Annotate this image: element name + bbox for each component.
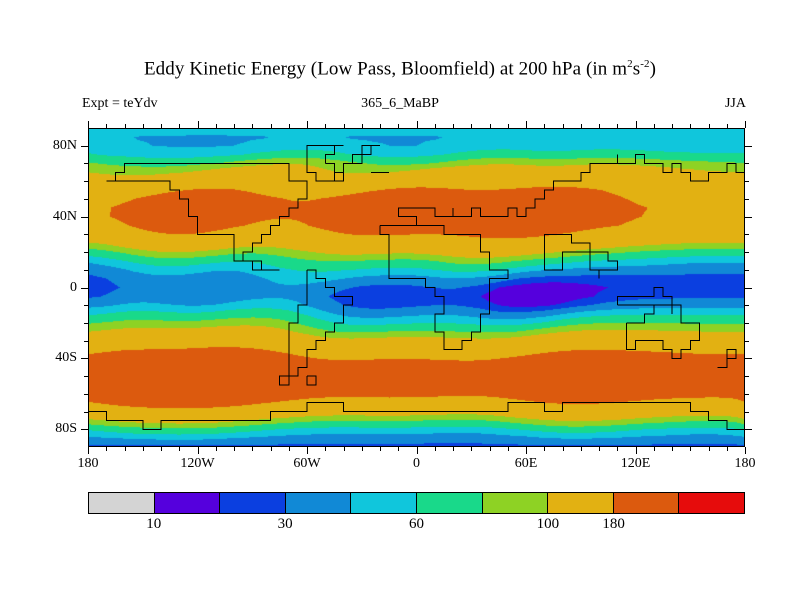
x-tick [690, 124, 691, 128]
x-axis-label: 60W [293, 456, 320, 472]
x-axis-label: 0 [413, 456, 420, 472]
x-axis-label: 120E [621, 456, 651, 472]
x-tick [198, 121, 199, 128]
x-tick [617, 124, 618, 128]
x-tick-bottom [453, 447, 454, 451]
x-tick [398, 124, 399, 128]
x-tick-bottom [289, 447, 290, 451]
x-tick-bottom [654, 447, 655, 451]
x-tick-bottom [362, 447, 363, 451]
map-plot-area: 80N40N040S80S180120W60W060E120E180 [88, 128, 745, 447]
x-tick-bottom [690, 447, 691, 451]
chart-title-main: Eddy Kinetic Energy (Low Pass, Bloomfiel… [144, 58, 627, 79]
colorbar-segment [154, 493, 220, 513]
x-tick-bottom [179, 447, 180, 451]
y-tick [84, 234, 88, 235]
y-tick-right [745, 358, 752, 359]
x-tick-bottom [526, 447, 527, 454]
x-tick-bottom [106, 447, 107, 451]
x-tick-bottom [380, 447, 381, 451]
colorbar-segment [285, 493, 351, 513]
x-tick-bottom [198, 447, 199, 454]
y-tick-right [745, 394, 749, 395]
y-tick-right [745, 288, 752, 289]
colorbar-segment [89, 493, 154, 513]
x-tick [654, 124, 655, 128]
colorbar-tick-label: 180 [602, 516, 625, 533]
x-axis-label: 180 [735, 456, 756, 472]
y-tick-right [745, 163, 749, 164]
y-tick-right [745, 252, 749, 253]
y-tick [81, 288, 88, 289]
y-tick-right [745, 323, 749, 324]
colorbar-segment [613, 493, 679, 513]
x-tick-bottom [125, 447, 126, 451]
x-tick [435, 124, 436, 128]
y-tick-right [745, 376, 749, 377]
y-tick-right [745, 341, 749, 342]
y-axis-label: 80S [55, 421, 77, 437]
season-label: JJA [725, 96, 746, 114]
x-tick [636, 121, 637, 128]
x-tick [672, 124, 673, 128]
y-tick [84, 305, 88, 306]
x-tick-bottom [161, 447, 162, 451]
x-tick-bottom [672, 447, 673, 451]
x-tick-bottom [435, 447, 436, 451]
y-tick-right [745, 412, 749, 413]
x-tick [325, 124, 326, 128]
x-tick-bottom [325, 447, 326, 451]
y-tick [84, 199, 88, 200]
colorbar-tick-label: 60 [409, 516, 424, 533]
y-tick [81, 146, 88, 147]
x-tick-bottom [490, 447, 491, 451]
x-tick [179, 124, 180, 128]
x-tick [508, 124, 509, 128]
y-axis-label: 40N [53, 209, 77, 225]
x-tick [289, 124, 290, 128]
y-tick-right [745, 199, 749, 200]
x-tick [161, 124, 162, 128]
y-axis-label: 40S [55, 350, 77, 366]
x-axis-label: 120W [180, 456, 214, 472]
colorbar-segment [547, 493, 613, 513]
y-tick-right [745, 234, 749, 235]
y-tick-right [745, 217, 752, 218]
y-tick-right [745, 429, 752, 430]
y-tick [84, 323, 88, 324]
contour-field [88, 128, 745, 447]
x-tick [599, 124, 600, 128]
x-tick-bottom [398, 447, 399, 451]
x-tick-bottom [88, 447, 89, 454]
x-tick-bottom [271, 447, 272, 451]
x-tick-bottom [709, 447, 710, 451]
x-tick [234, 124, 235, 128]
x-tick [727, 124, 728, 128]
x-tick [544, 124, 545, 128]
y-tick [84, 394, 88, 395]
colorbar-segment [350, 493, 416, 513]
x-axis-label: 180 [78, 456, 99, 472]
y-tick [81, 429, 88, 430]
x-tick [125, 124, 126, 128]
x-tick-bottom [252, 447, 253, 451]
x-tick [745, 121, 746, 128]
x-tick [471, 124, 472, 128]
y-tick-right [745, 181, 749, 182]
x-tick [709, 124, 710, 128]
x-tick-bottom [508, 447, 509, 451]
x-tick-bottom [599, 447, 600, 451]
y-tick [84, 341, 88, 342]
colorbar-segment [678, 493, 744, 513]
chart-title: Eddy Kinetic Energy (Low Pass, Bloomfiel… [0, 58, 800, 80]
x-tick-bottom [563, 447, 564, 451]
x-tick-bottom [544, 447, 545, 451]
x-tick-bottom [727, 447, 728, 451]
x-axis-label: 60E [515, 456, 538, 472]
x-tick-bottom [344, 447, 345, 451]
x-tick [380, 124, 381, 128]
x-tick [106, 124, 107, 128]
y-tick-right [745, 270, 749, 271]
x-tick-bottom [636, 447, 637, 454]
y-axis-label: 0 [70, 280, 77, 296]
y-tick [84, 376, 88, 377]
x-tick [526, 121, 527, 128]
x-tick-bottom [581, 447, 582, 451]
run-label: 365_6_MaBP [0, 96, 800, 114]
x-tick-bottom [307, 447, 308, 454]
y-tick-right [745, 146, 752, 147]
y-tick [84, 252, 88, 253]
x-tick-bottom [417, 447, 418, 454]
y-tick [81, 217, 88, 218]
y-tick [84, 270, 88, 271]
y-tick [84, 412, 88, 413]
x-tick [216, 124, 217, 128]
x-tick [453, 124, 454, 128]
x-tick-bottom [234, 447, 235, 451]
x-tick [563, 124, 564, 128]
colorbar-segment [416, 493, 482, 513]
y-tick-right [745, 305, 749, 306]
x-tick [307, 121, 308, 128]
x-tick [143, 124, 144, 128]
x-tick [252, 124, 253, 128]
x-tick [344, 124, 345, 128]
x-tick [581, 124, 582, 128]
colorbar-tick-label: 10 [146, 516, 161, 533]
x-tick [490, 124, 491, 128]
x-tick [417, 121, 418, 128]
chart-title-end: ) [650, 58, 656, 79]
y-axis-label: 80N [53, 138, 77, 154]
colorbar-tick-label: 30 [278, 516, 293, 533]
colorbar-tick-label: 100 [537, 516, 560, 533]
colorbar-segment [219, 493, 285, 513]
x-tick-bottom [745, 447, 746, 454]
colorbar-segment [482, 493, 548, 513]
y-tick [84, 181, 88, 182]
x-tick-bottom [143, 447, 144, 451]
x-tick [362, 124, 363, 128]
x-tick-bottom [471, 447, 472, 451]
x-tick [88, 121, 89, 128]
y-tick [84, 163, 88, 164]
x-tick-bottom [216, 447, 217, 451]
colorbar [88, 492, 745, 514]
chart-title-sup-2: -2 [640, 58, 649, 70]
y-tick [81, 358, 88, 359]
x-tick-bottom [617, 447, 618, 451]
x-tick [271, 124, 272, 128]
